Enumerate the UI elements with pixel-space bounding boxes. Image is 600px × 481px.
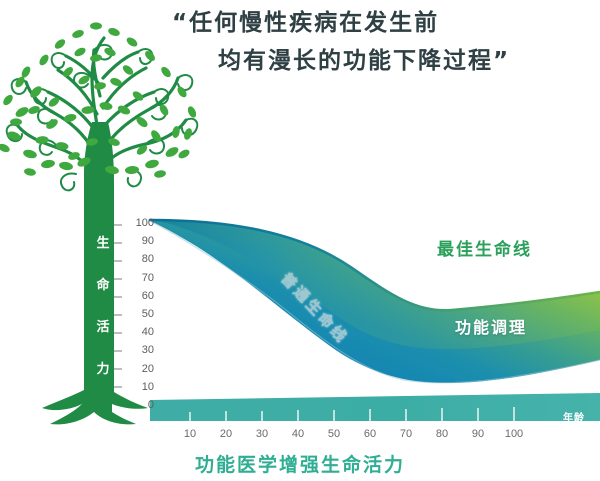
x-tick-label: 50	[328, 428, 340, 440]
x-tick-label: 40	[292, 428, 304, 440]
y-tick-label: 70	[142, 273, 154, 283]
y-tick-label: 10	[142, 382, 154, 392]
band-group	[150, 220, 600, 383]
x-axis-bar-group	[150, 393, 600, 421]
y-tick-label: 0	[148, 400, 154, 410]
poster-caption: 功能医学增强生命活力	[0, 450, 600, 477]
y-tick-label: 80	[142, 254, 154, 264]
annotation-best-life-line: 最佳生命线	[437, 235, 532, 260]
tree-illustration	[0, 14, 206, 444]
y-tick-label: 90	[142, 236, 154, 246]
y-tick-label: 50	[142, 309, 154, 319]
y-tick-label: 40	[142, 327, 154, 337]
x-tick-label: 10	[184, 428, 196, 440]
x-tick-label: 20	[220, 428, 232, 440]
x-tick-label: 90	[472, 428, 484, 440]
y-tick-label: 100	[136, 218, 154, 228]
poster-root: 生 命 活 力 1009080706050403020100 102030405…	[0, 0, 600, 481]
x-tick-label: 70	[400, 428, 412, 440]
y-axis-tick-labels: 1009080706050403020100	[124, 218, 154, 408]
x-tick-label: 100	[505, 428, 523, 440]
y-tick-label: 30	[142, 345, 154, 355]
y-tick-label: 60	[142, 291, 154, 301]
annotation-functional-conditioning: 功能调理	[455, 314, 527, 338]
x-tick-label: 30	[256, 428, 268, 440]
y-tick-label: 20	[142, 364, 154, 374]
x-axis-tick-labels: 102030405060708090100	[0, 428, 600, 446]
x-axis-title: 年龄	[563, 409, 585, 424]
x-tick-label: 60	[364, 428, 376, 440]
tree-svg	[0, 14, 206, 444]
x-tick-label: 80	[436, 428, 448, 440]
x-axis-bar	[150, 393, 600, 421]
